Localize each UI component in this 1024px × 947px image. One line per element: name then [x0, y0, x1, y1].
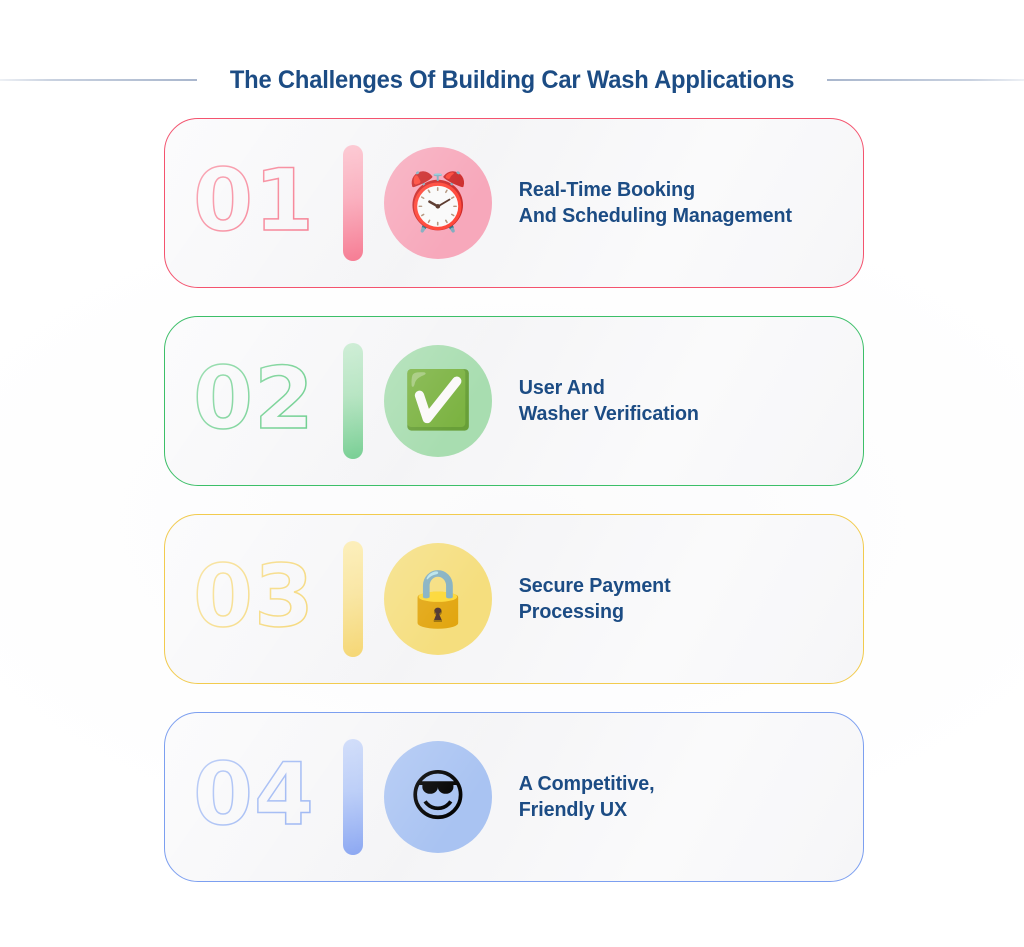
card-title-line-2: And Scheduling Management	[519, 203, 830, 229]
alarm-clock-icon: ⏰	[403, 175, 473, 231]
sunglasses-face-icon: 😎	[409, 769, 467, 825]
card-title: User AndWasher Verification	[513, 375, 849, 427]
card-accent-bar	[343, 343, 363, 459]
card-title-line-1: Secure Payment	[519, 573, 830, 599]
card-icon: ✅	[363, 345, 513, 457]
card-number: 04	[165, 752, 343, 842]
card-title-line-1: A Competitive,	[519, 771, 830, 797]
card-title: Real-Time BookingAnd Scheduling Manageme…	[513, 177, 849, 229]
card-icon: ⏰	[363, 147, 513, 259]
page-title: The Challenges Of Building Car Wash Appl…	[230, 66, 794, 95]
page-header: The Challenges Of Building Car Wash Appl…	[0, 58, 1024, 102]
card-icon: 😎	[363, 741, 513, 853]
card-title-line-1: Real-Time Booking	[519, 177, 830, 203]
check-mark-button-icon: ✅	[403, 373, 473, 429]
card-number: 03	[165, 554, 343, 644]
card-title-line-2: Friendly UX	[519, 797, 830, 823]
card-number: 01	[165, 158, 343, 248]
card-accent-bar	[343, 739, 363, 855]
title-rule-right	[827, 79, 1024, 81]
icon-bubble: ✅	[384, 345, 492, 457]
card-title-line-1: User And	[519, 375, 830, 401]
challenge-card[interactable]: 04😎A Competitive,Friendly UX	[164, 712, 864, 882]
challenge-card[interactable]: 03🔒Secure PaymentProcessing	[164, 514, 864, 684]
card-title-line-2: Washer Verification	[519, 401, 830, 427]
challenge-card[interactable]: 02✅User AndWasher Verification	[164, 316, 864, 486]
card-title: Secure PaymentProcessing	[513, 573, 849, 625]
icon-bubble: 🔒	[384, 543, 492, 655]
title-rule-left	[0, 79, 197, 81]
card-accent-bar	[343, 541, 363, 657]
lock-icon: 🔒	[403, 571, 473, 627]
card-title: A Competitive,Friendly UX	[513, 771, 849, 823]
card-number: 02	[165, 356, 343, 446]
card-title-line-2: Processing	[519, 599, 830, 625]
icon-bubble: ⏰	[384, 147, 492, 259]
card-icon: 🔒	[363, 543, 513, 655]
challenge-card-list: 01⏰Real-Time BookingAnd Scheduling Manag…	[164, 118, 864, 910]
card-accent-bar	[343, 145, 363, 261]
challenge-card[interactable]: 01⏰Real-Time BookingAnd Scheduling Manag…	[164, 118, 864, 288]
icon-bubble: 😎	[384, 741, 492, 853]
